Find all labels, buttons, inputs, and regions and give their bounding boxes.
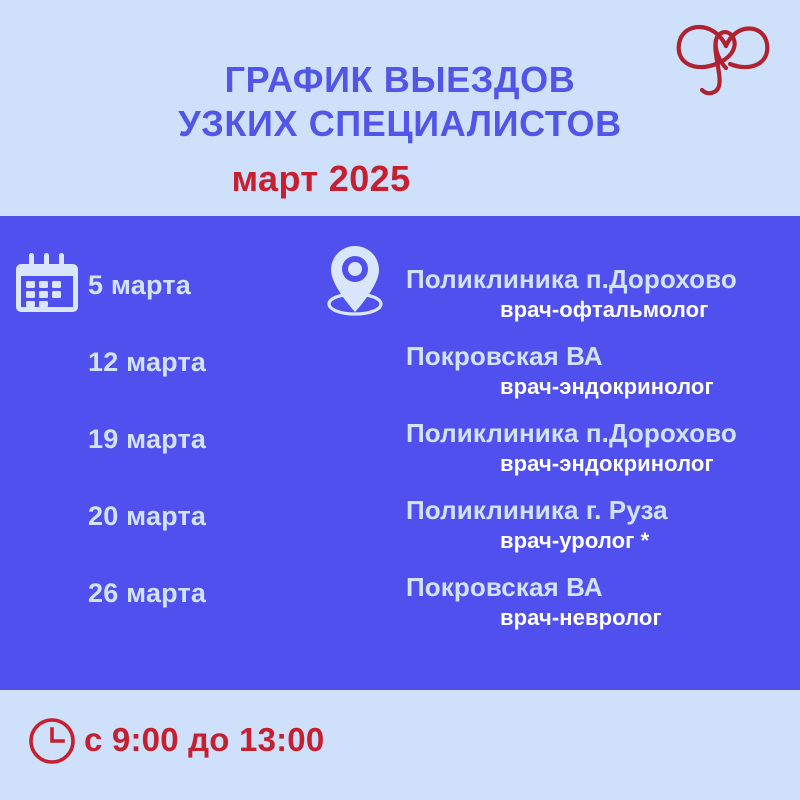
title-line-2: УЗКИХ СПЕЦИАЛИСТОВ	[0, 102, 800, 146]
table-row[interactable]: 5 марта Поликлиника п.Дорохово врач-офта…	[0, 252, 800, 329]
row-place: Покровская ВА	[406, 572, 603, 603]
row-place: Поликлиника г. Руза	[406, 495, 668, 526]
header: ГРАФИК ВЫЕЗДОВ УЗКИХ СПЕЦИАЛИСТОВ март 2…	[0, 0, 800, 216]
page-title: ГРАФИК ВЫЕЗДОВ УЗКИХ СПЕЦИАЛИСТОВ	[0, 58, 800, 146]
title-line-1: ГРАФИК ВЫЕЗДОВ	[0, 58, 800, 102]
schedule-panel: 5 марта Поликлиника п.Дорохово врач-офта…	[0, 216, 800, 690]
table-row[interactable]: 26 марта Покровская ВА врач-невролог	[0, 560, 800, 637]
row-specialty: врач-невролог	[500, 605, 662, 631]
working-hours-label: с 9:00 до 13:00	[84, 721, 324, 759]
row-place: Покровская ВА	[406, 341, 603, 372]
row-date: 19 марта	[88, 424, 206, 455]
clock-icon	[28, 717, 76, 765]
row-specialty: врач-эндокринолог	[500, 451, 714, 477]
row-specialty: врач-эндокринолог	[500, 374, 714, 400]
row-specialty: врач-офтальмолог	[500, 297, 708, 323]
row-place: Поликлиника п.Дорохово	[406, 418, 737, 449]
schedule-rows: 5 марта Поликлиника п.Дорохово врач-офта…	[0, 216, 800, 690]
row-date: 5 марта	[88, 270, 191, 301]
row-specialty: врач-уролог *	[500, 528, 649, 554]
row-date: 26 марта	[88, 578, 206, 609]
row-date: 12 марта	[88, 347, 206, 378]
row-place: Поликлиника п.Дорохово	[406, 264, 737, 295]
table-row[interactable]: 19 марта Поликлиника п.Дорохово врач-энд…	[0, 406, 800, 483]
table-row[interactable]: 12 марта Покровская ВА врач-эндокринолог	[0, 329, 800, 406]
row-date: 20 марта	[88, 501, 206, 532]
month-year-label: март 2025	[0, 158, 800, 200]
table-row[interactable]: 20 марта Поликлиника г. Руза врач-уролог…	[0, 483, 800, 560]
